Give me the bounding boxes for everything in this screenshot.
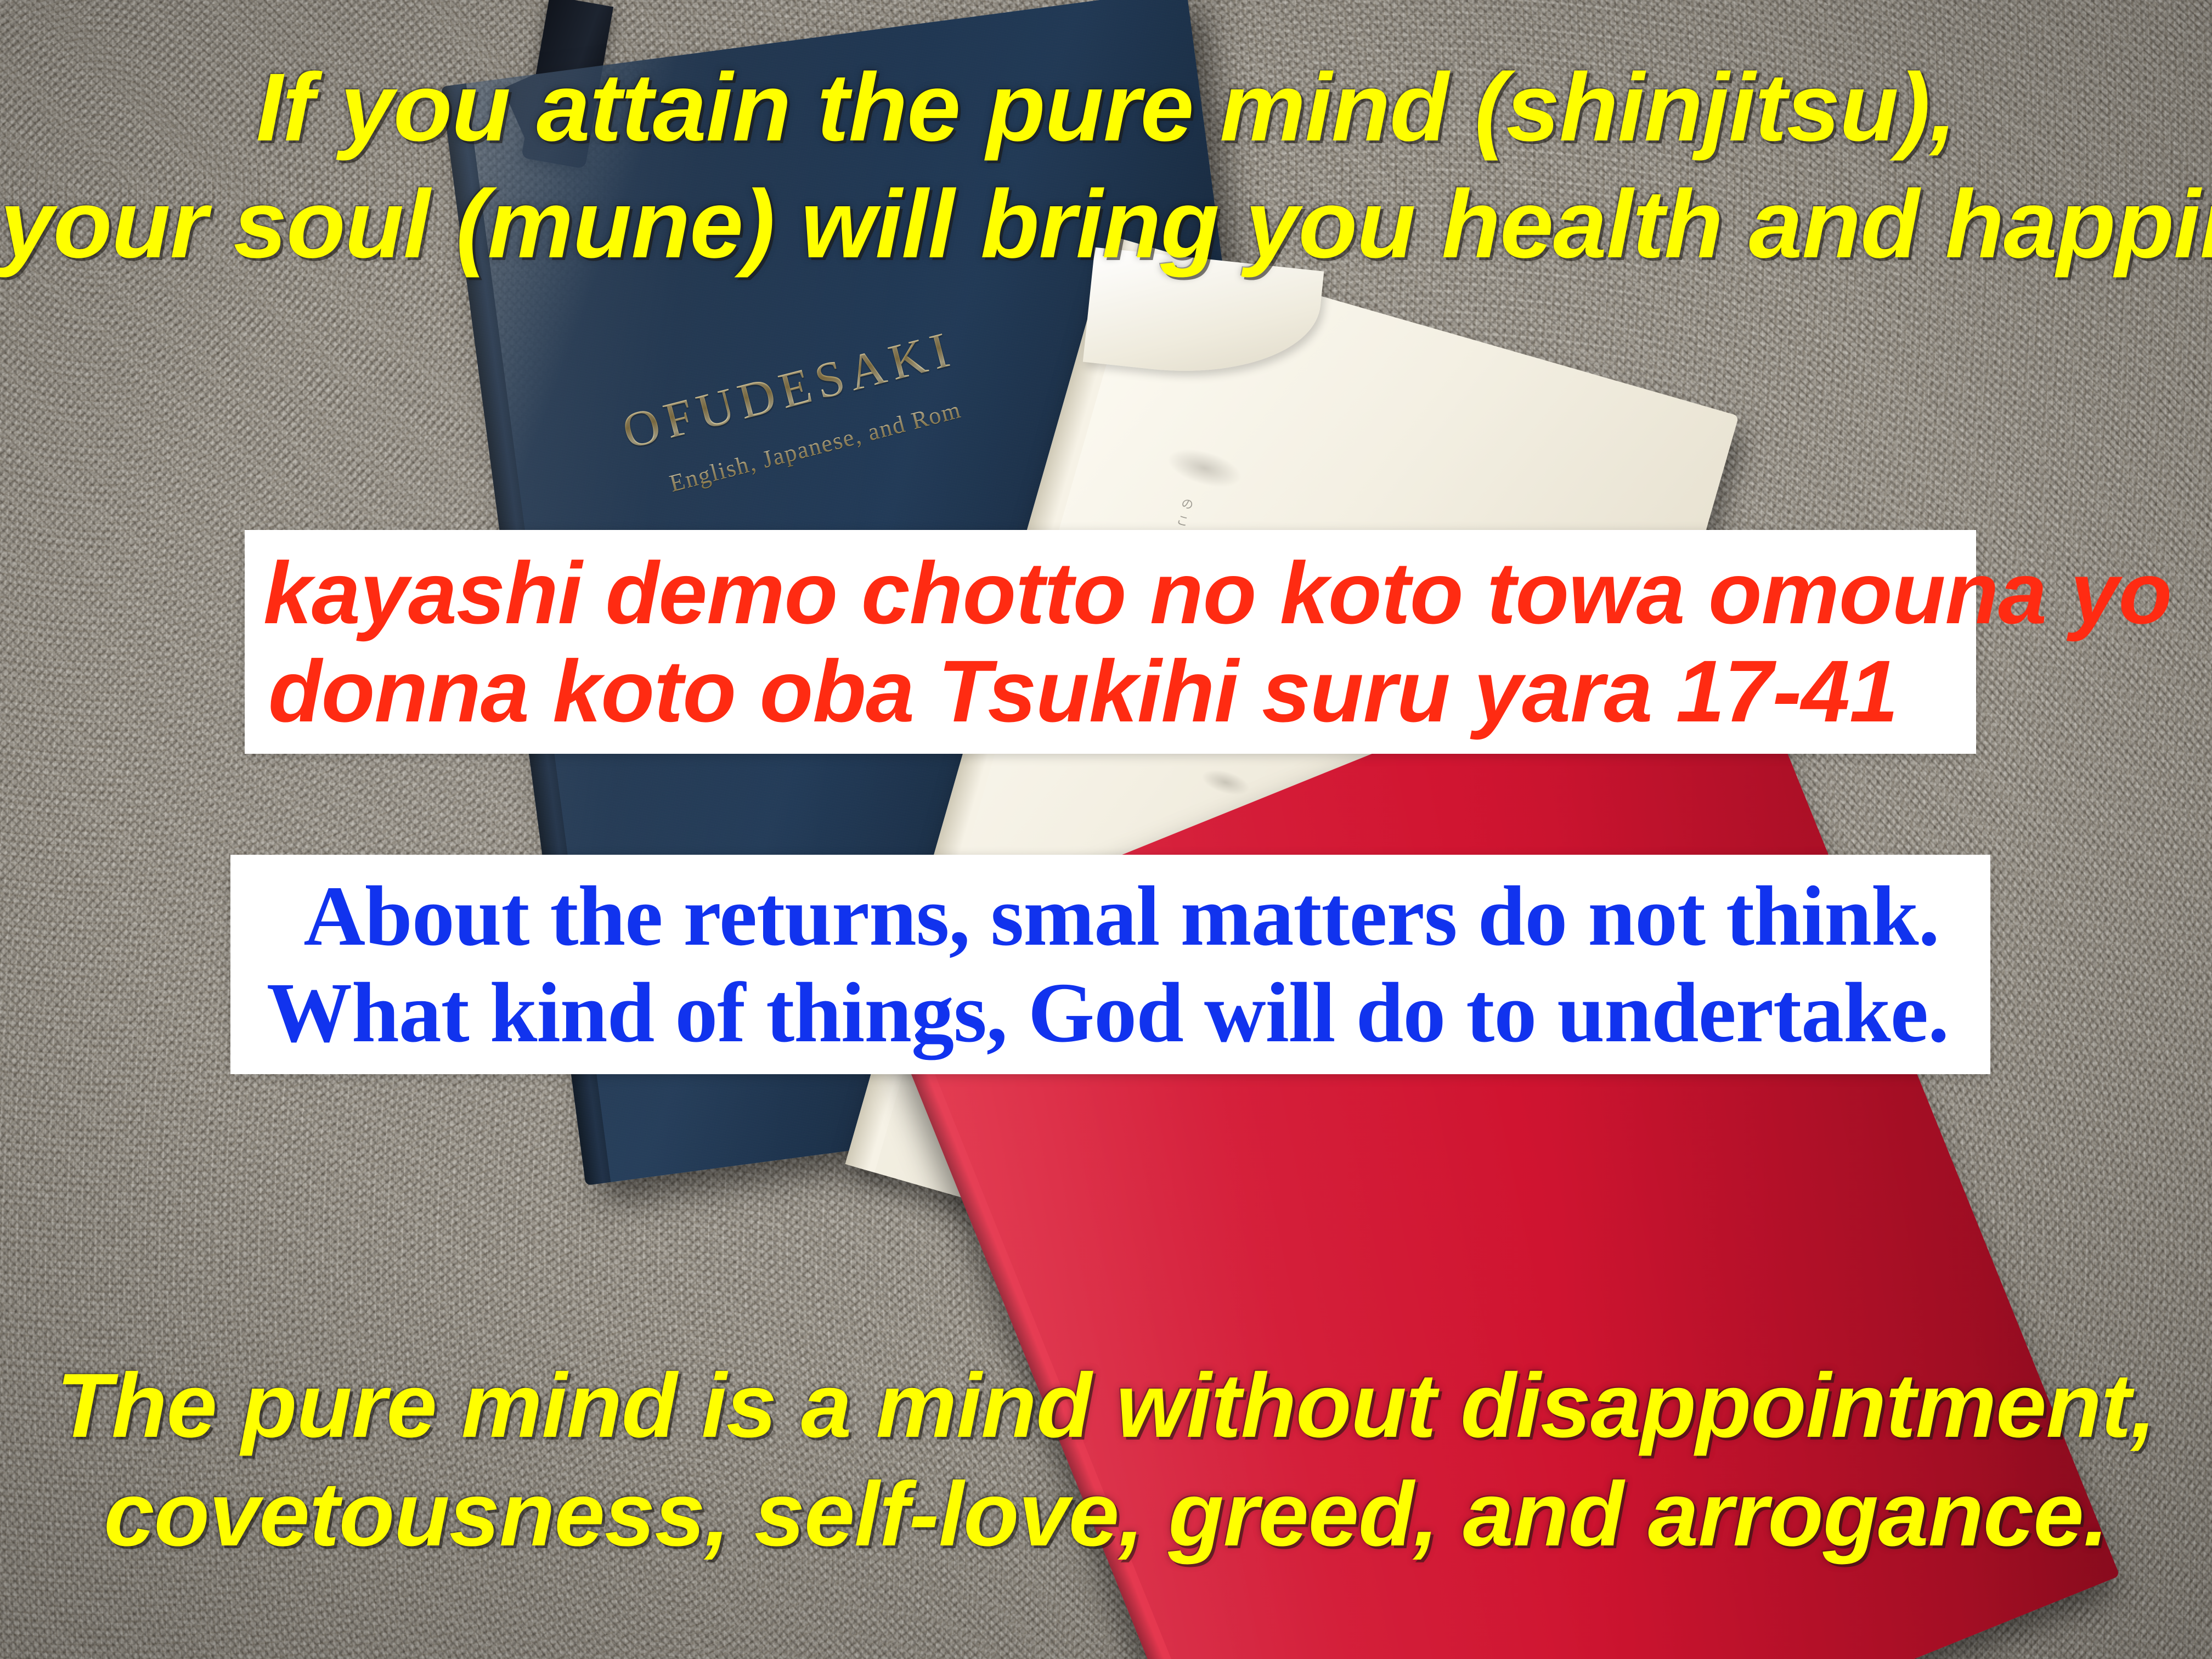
romaji-verse-panel: kayashi demo chotto no koto towa omouna …: [245, 530, 1976, 754]
romaji-line-1: kayashi demo chotto no koto towa omouna …: [245, 544, 1976, 642]
caption-bottom-line1: The pure mind is a mind without disappoi…: [0, 1355, 2212, 1457]
romaji-line-2: donna koto oba Tsukihi suru yara 17-41: [245, 642, 1976, 740]
caption-bottom: The pure mind is a mind without disappoi…: [0, 1355, 2212, 1566]
cream-notebook-smudge: [1199, 765, 1252, 800]
caption-top-line2: your soul (mune) will bring you health a…: [0, 171, 2212, 279]
caption-top: If you attain the pure mind (shinjitsu),…: [0, 54, 2212, 279]
caption-bottom-line2: covetousness, self-love, greed, and arro…: [0, 1464, 2212, 1566]
translation-line-1: About the returns, smal matters do not t…: [230, 868, 1990, 964]
screenshot-stage: OFUDESAKI English, Japanese, and Rom の こ…: [0, 0, 2212, 1659]
cream-notebook-smudge: [1163, 442, 1246, 494]
translation-line-2: What kind of things, God will do to unde…: [230, 964, 1990, 1061]
translation-verse-panel: About the returns, smal matters do not t…: [230, 855, 1990, 1074]
caption-top-line1: If you attain the pure mind (shinjitsu),: [0, 54, 2212, 162]
